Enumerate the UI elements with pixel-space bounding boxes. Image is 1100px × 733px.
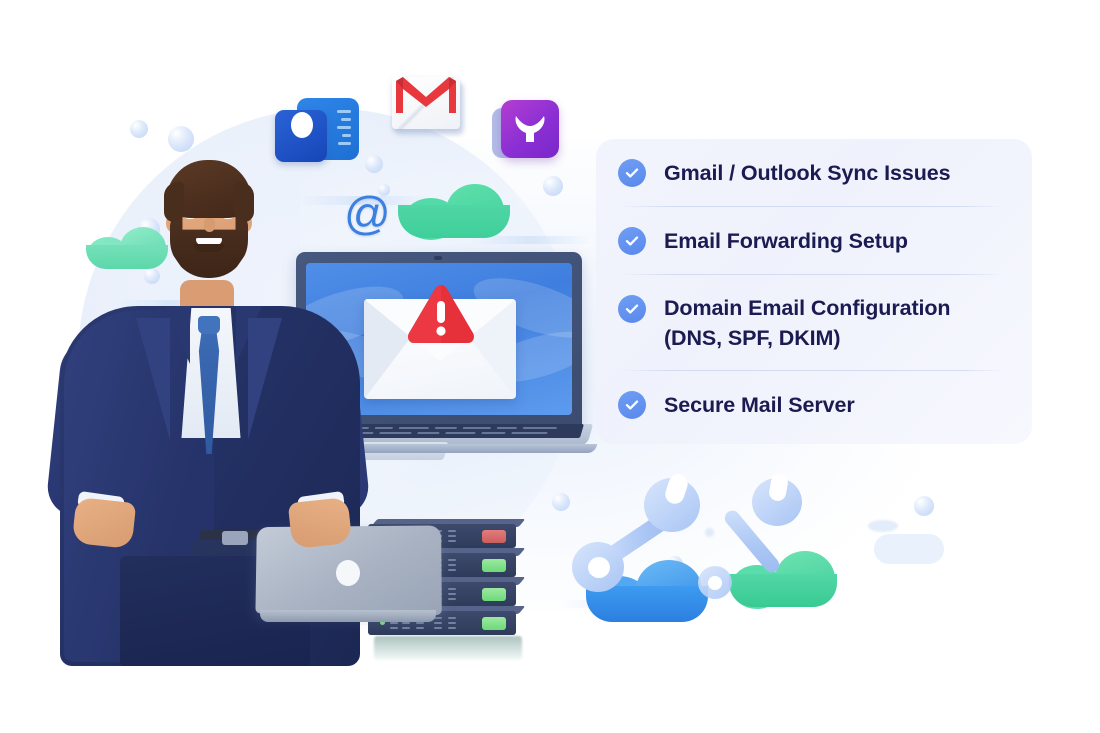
- checklist-item[interactable]: Email Forwarding Setup: [596, 207, 1032, 275]
- agent-lower-lip: [194, 244, 224, 252]
- checklist-item[interactable]: Gmail / Outlook Sync Issues: [596, 139, 1032, 207]
- cloud-green-icon: [398, 182, 510, 238]
- check-circle-icon: [618, 159, 646, 187]
- checklist-item-label: Email Forwarding Setup: [664, 226, 908, 256]
- laptop-logo-icon: [336, 560, 360, 586]
- checklist-item[interactable]: Secure Mail Server: [596, 371, 1032, 439]
- decorative-dot: [868, 520, 898, 532]
- agent-hand-left: [72, 497, 136, 549]
- held-laptop: [254, 526, 440, 626]
- decorative-sphere: [914, 496, 934, 516]
- decorative-sphere: [130, 120, 148, 138]
- support-agent: [52, 138, 382, 666]
- check-circle-icon: [618, 227, 646, 255]
- yahoo-mail-icon: [492, 100, 564, 166]
- check-circle-icon: [618, 295, 646, 323]
- checklist: Gmail / Outlook Sync Issues Email Forwar…: [596, 139, 1032, 439]
- decorative-pale-cloud: [874, 534, 944, 564]
- agent-hair-side-left: [164, 182, 184, 222]
- checklist-item-label: Gmail / Outlook Sync Issues: [664, 158, 950, 188]
- wrench-icon: [698, 478, 802, 600]
- agent-lapel-left: [136, 318, 170, 440]
- decorative-sphere: [552, 493, 570, 511]
- checklist-item-label: Secure Mail Server: [664, 390, 855, 420]
- illustration-canvas: @: [0, 0, 1100, 733]
- services-checklist-card: Gmail / Outlook Sync Issues Email Forwar…: [596, 139, 1032, 444]
- agent-hair-side-right: [234, 182, 254, 222]
- agent-tie-knot: [198, 316, 220, 334]
- checklist-item[interactable]: Domain Email Configuration (DNS, SPF, DK…: [596, 275, 1032, 371]
- check-circle-icon: [618, 391, 646, 419]
- checklist-item-label: Domain Email Configuration (DNS, SPF, DK…: [664, 293, 950, 353]
- envelope-graphic: [364, 299, 516, 399]
- gmail-m-glyph: [394, 75, 458, 115]
- wrench-icon: [572, 478, 700, 594]
- decorative-sphere: [543, 176, 563, 196]
- warning-triangle-icon: [406, 283, 476, 345]
- agent-lapel-right: [248, 318, 282, 440]
- yahoo-y-glyph: [510, 112, 550, 148]
- agent-hand-right: [288, 497, 352, 549]
- agent-nose: [204, 218, 215, 232]
- agent-belt-buckle: [222, 531, 248, 545]
- gmail-icon: [392, 77, 464, 135]
